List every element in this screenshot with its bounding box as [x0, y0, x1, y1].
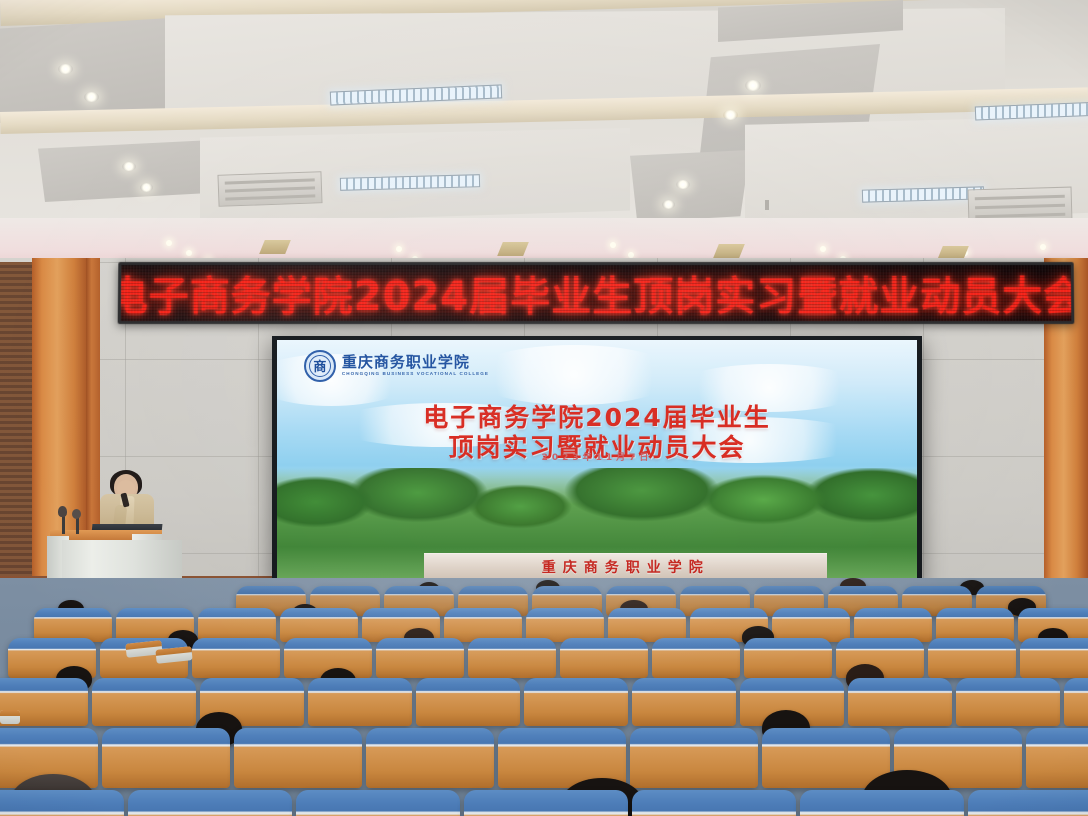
microphone-icon [72, 509, 81, 519]
college-name-en: CHONGQING BUSINESS VOCATIONAL COLLEGE [342, 372, 489, 377]
college-name-block: 重庆商务职业学院 CHONGQING BUSINESS VOCATIONAL C… [342, 355, 489, 377]
seat[interactable] [630, 728, 758, 788]
seat[interactable] [744, 638, 832, 678]
downlight-icon [820, 246, 826, 252]
seat[interactable] [0, 790, 124, 816]
slide-title-line-1: 电子商务学院2024届毕业生 [277, 403, 917, 434]
seat[interactable] [1020, 638, 1088, 678]
seat[interactable] [1064, 678, 1088, 726]
seat[interactable] [632, 678, 736, 726]
seat-armrest[interactable] [0, 710, 20, 724]
wall-louver-panel [0, 262, 36, 618]
slide-content: 商 重庆商务职业学院 CHONGQING BUSINESS VOCATIONAL… [277, 340, 917, 581]
downlight-icon [396, 246, 402, 252]
air-conditioning-vent [217, 171, 322, 207]
ceiling-coffer [0, 18, 170, 123]
seat[interactable] [128, 790, 292, 816]
seat[interactable] [928, 638, 1016, 678]
ceiling-slot-light [497, 242, 529, 256]
microphone-icon [58, 506, 67, 517]
downlight-icon [676, 180, 690, 189]
seat[interactable] [968, 790, 1088, 816]
downlight-icon [723, 110, 738, 120]
seat[interactable] [92, 678, 196, 726]
downlight-icon [610, 242, 616, 248]
ceiling-coffer [630, 150, 750, 222]
ceiling-coffer [38, 140, 213, 202]
ceiling-sensor [765, 200, 769, 210]
audience-seating [0, 578, 1088, 816]
seal-glyph: 商 [313, 356, 326, 375]
seat[interactable] [848, 678, 952, 726]
downlight-icon [1040, 244, 1046, 250]
seat[interactable] [234, 728, 362, 788]
slide-date: 2023年11月7日 [277, 450, 917, 463]
downlight-icon [58, 64, 73, 74]
seat[interactable] [1026, 728, 1088, 788]
seat[interactable] [632, 790, 796, 816]
downlight-icon [745, 80, 761, 91]
seat[interactable] [376, 638, 464, 678]
downlight-icon [84, 92, 99, 102]
ceiling-slot-light [713, 244, 745, 258]
downlight-icon [662, 200, 675, 209]
projection-screen: 商 重庆商务职业学院 CHONGQING BUSINESS VOCATIONAL… [272, 336, 922, 585]
seat[interactable] [762, 728, 890, 788]
seat[interactable] [34, 608, 112, 642]
downlight-icon [186, 250, 192, 256]
seat[interactable] [772, 608, 850, 642]
college-seal-icon: 商 [304, 350, 336, 382]
led-banner: 电子商务学院2024届毕业生顶岗实习暨就业动员大会 [118, 262, 1075, 324]
seat[interactable] [608, 608, 686, 642]
seat[interactable] [444, 608, 522, 642]
downlight-icon [122, 162, 136, 171]
seat[interactable] [464, 790, 628, 816]
cloud [469, 345, 679, 405]
downlight-icon [140, 183, 153, 192]
seat[interactable] [366, 728, 494, 788]
seat[interactable] [296, 790, 460, 816]
seat[interactable] [956, 678, 1060, 726]
led-banner-text: 电子商务学院2024届毕业生顶岗实习暨就业动员大会 [118, 264, 1075, 322]
seat[interactable] [468, 638, 556, 678]
seat[interactable] [560, 638, 648, 678]
seat[interactable] [192, 638, 280, 678]
auditorium-photo: 电子商务学院2024届毕业生顶岗实习暨就业动员大会 商 重庆商务职业学院 CHO… [0, 0, 1088, 816]
ceiling-slot-light [259, 240, 291, 254]
campus-gate-stone: 重庆商务职业学院 [424, 553, 827, 579]
campus-gate-stone-text: 重庆商务职业学院 [542, 557, 710, 577]
seat[interactable] [936, 608, 1014, 642]
seat[interactable] [102, 728, 230, 788]
seat[interactable] [524, 678, 628, 726]
seat[interactable] [308, 678, 412, 726]
downlight-icon [166, 240, 172, 246]
seat[interactable] [280, 608, 358, 642]
seat[interactable] [800, 790, 964, 816]
seat[interactable] [854, 608, 932, 642]
seat[interactable] [526, 608, 604, 642]
seat[interactable] [652, 638, 740, 678]
college-logo: 商 重庆商务职业学院 CHONGQING BUSINESS VOCATIONAL… [304, 350, 489, 382]
seat[interactable] [416, 678, 520, 726]
seat[interactable] [198, 608, 276, 642]
college-name-cn: 重庆商务职业学院 [342, 355, 489, 370]
